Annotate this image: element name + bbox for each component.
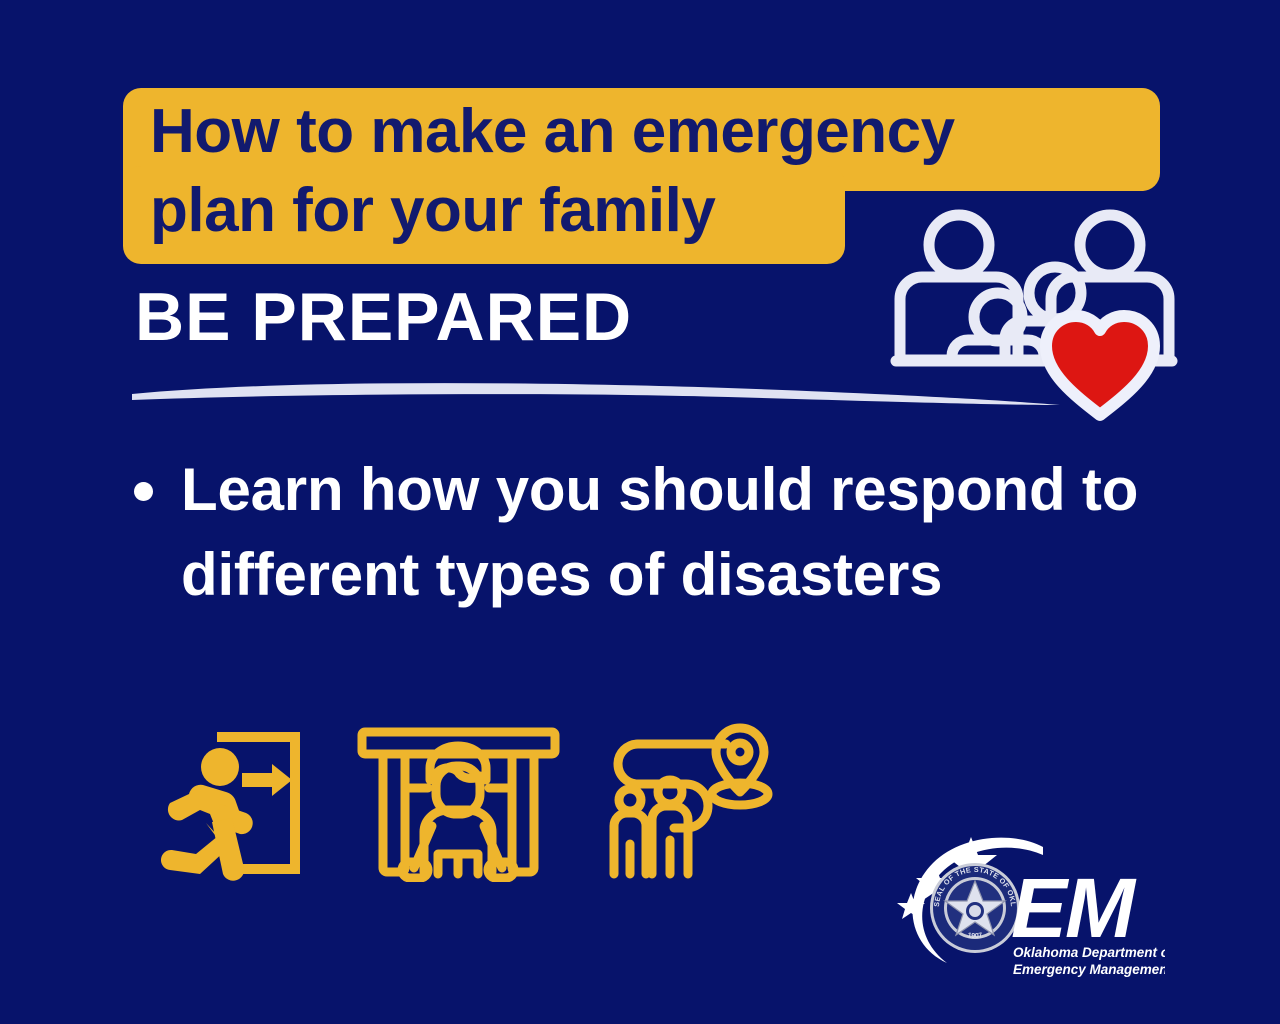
bullet-list: Learn how you should respond to differen… (134, 447, 1164, 617)
page-title: How to make an emergency plan for your f… (150, 92, 1160, 250)
seal-year-text: 1907 (967, 932, 983, 940)
headline: BE PREPARED (135, 281, 632, 353)
exit-arrow (242, 764, 292, 796)
oem-logo: GREAT SEAL OF THE STATE OF OKLAHOMA 1907… (893, 833, 1165, 983)
preparedness-icon-row (160, 722, 780, 887)
title-banner: How to make an emergency plan for your f… (123, 88, 1163, 264)
list-item: Learn how you should respond to differen… (181, 447, 1164, 617)
table-leg-right (512, 754, 534, 872)
route-person-small-head (619, 789, 641, 811)
route-person-large-head (658, 780, 682, 804)
seal-center-inner (969, 905, 981, 917)
drop-cover-hold-icon (356, 722, 561, 882)
route-person-small-body (614, 813, 646, 874)
logo-dept-line-1: Oklahoma Department of (1013, 945, 1165, 960)
bullet-dot-icon (134, 482, 153, 501)
evacuation-route-icon (608, 722, 773, 882)
logo-monogram: EM (1011, 861, 1137, 955)
person-legs (438, 854, 478, 874)
running-figure-head (201, 748, 239, 786)
map-pin-dot (731, 743, 749, 761)
logo-dept-line-2: Emergency Management (1013, 962, 1165, 977)
route-person-large-body (652, 806, 688, 874)
poster-canvas: How to make an emergency plan for your f… (0, 0, 1280, 1024)
emergency-exit-icon (160, 722, 310, 882)
heart-icon (1046, 316, 1154, 415)
table-leg-left (383, 754, 405, 872)
